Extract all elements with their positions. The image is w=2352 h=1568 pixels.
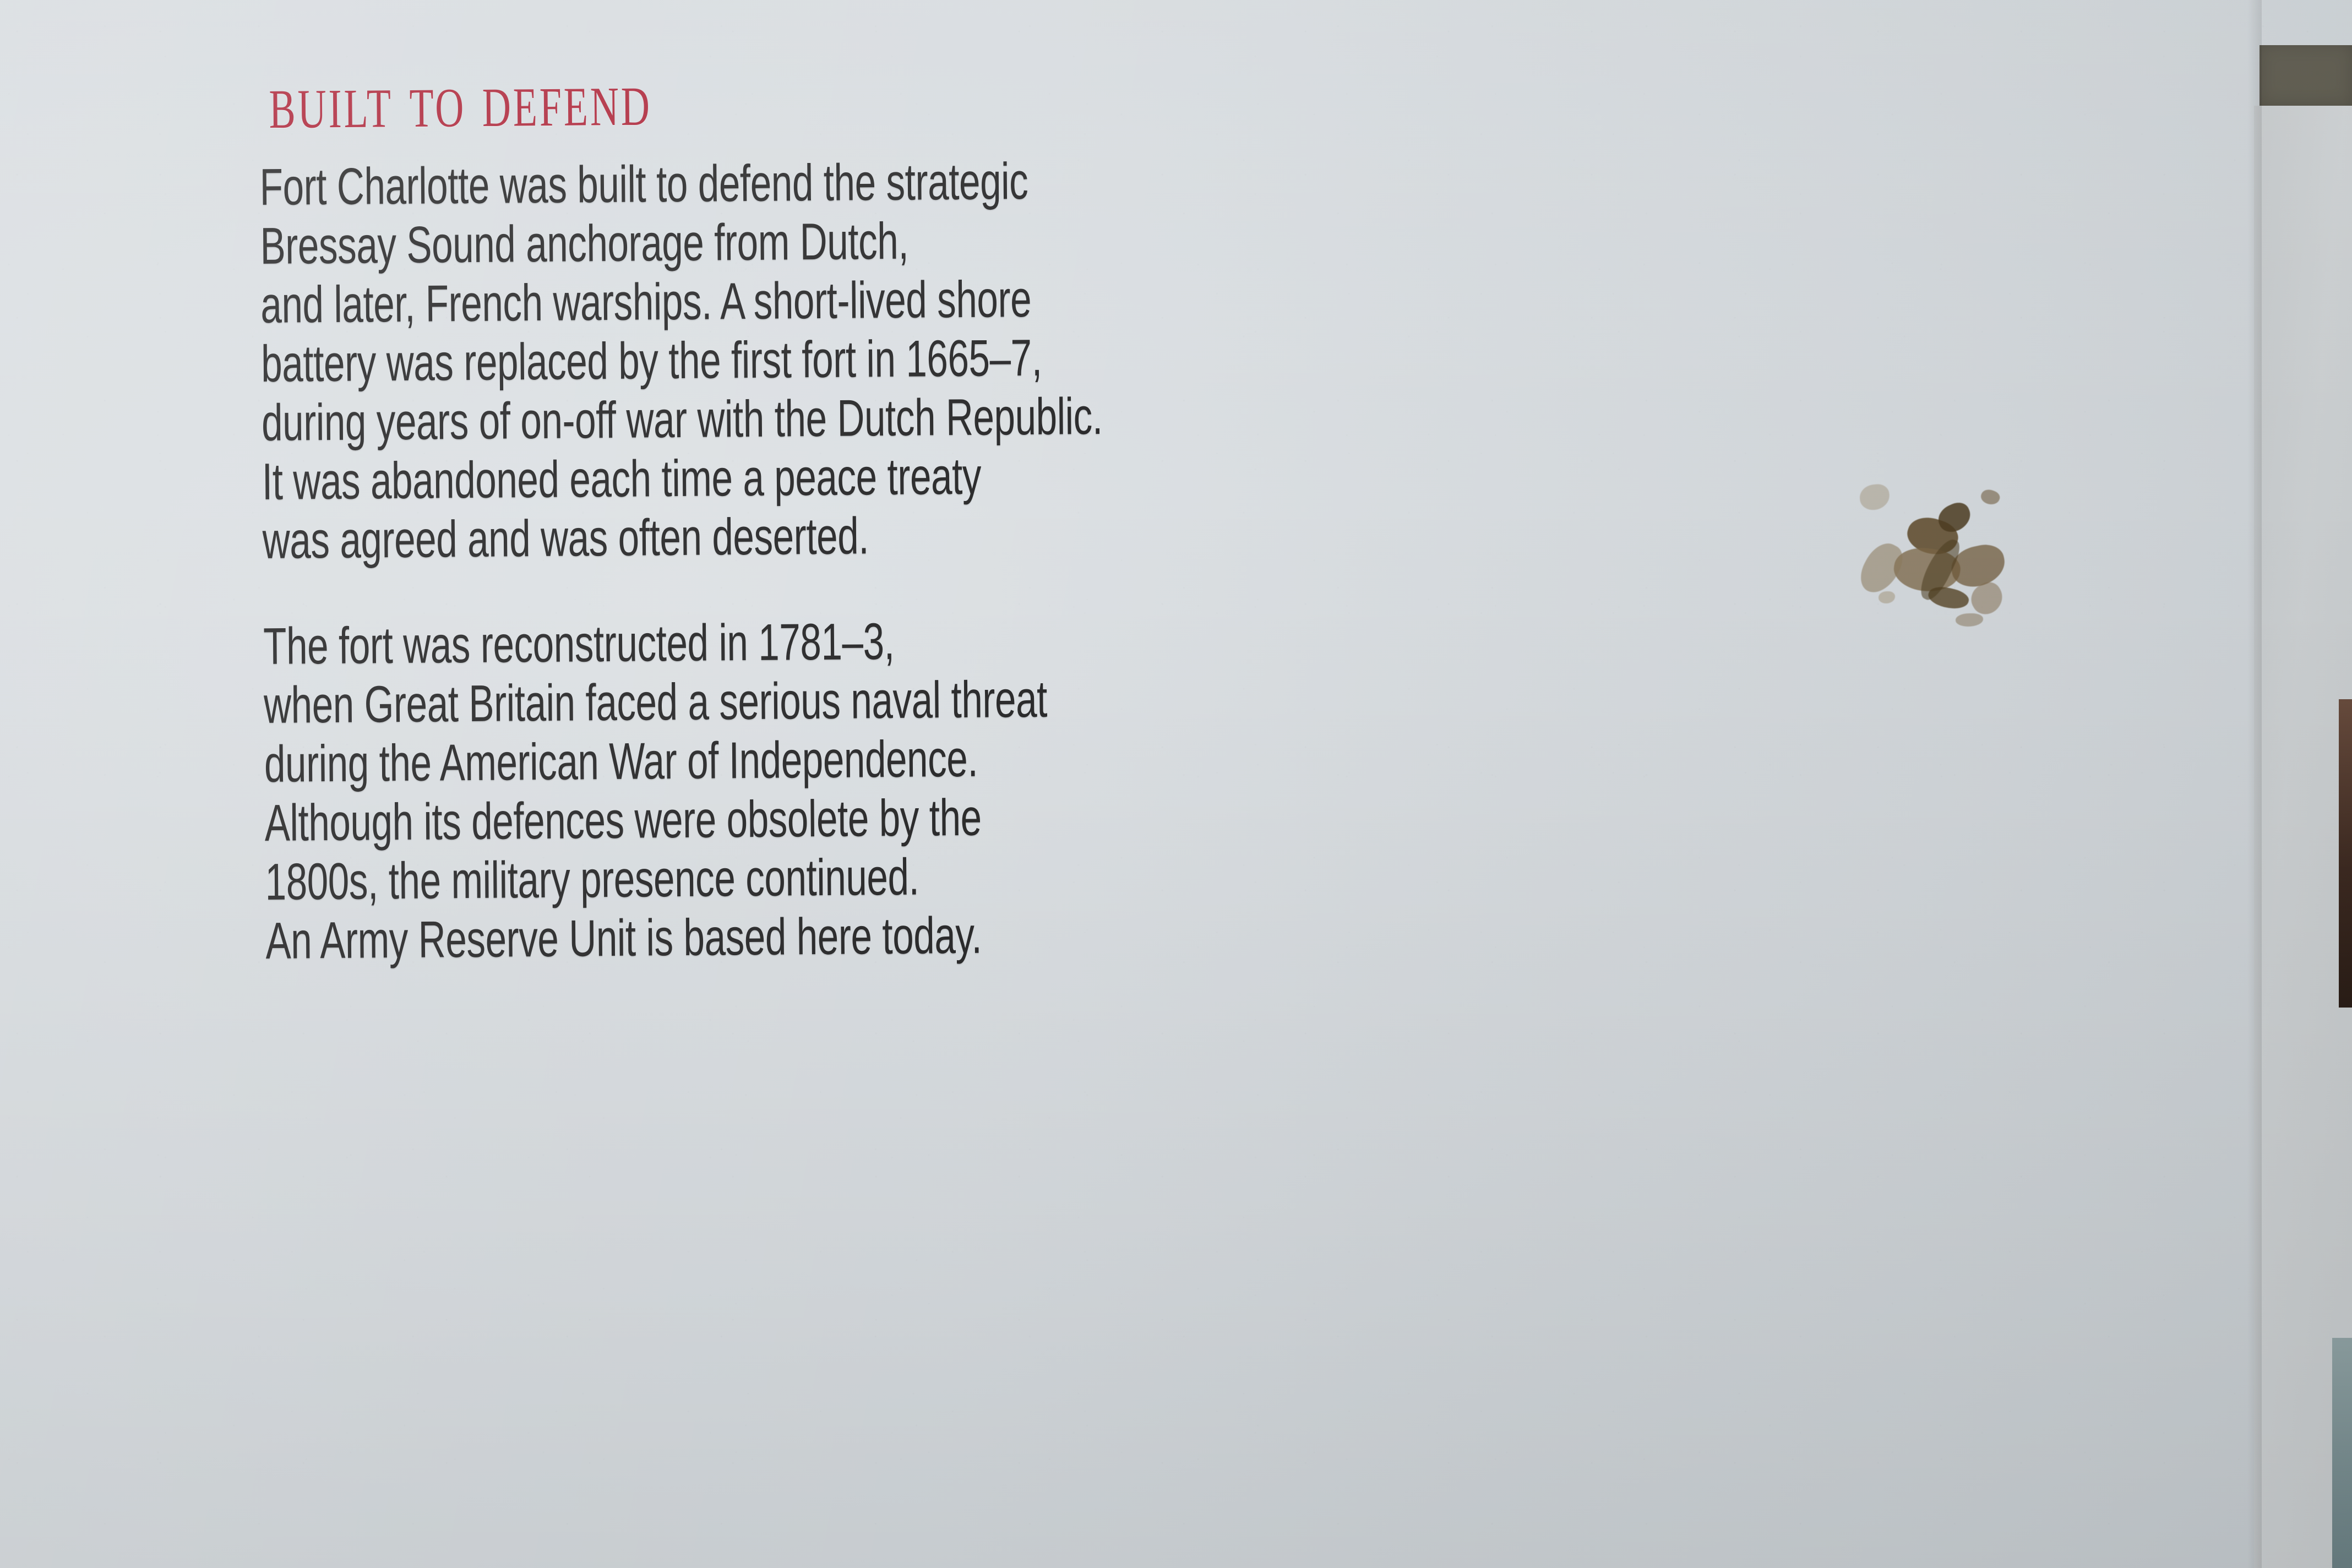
paragraph-2: The fort was reconstructed in 1781–3, wh…	[263, 602, 2079, 970]
interpretation-panel-photo: BUILT TO DEFEND Fort Charlotte was built…	[0, 0, 2352, 1568]
paragraph-1: Fort Charlotte was built to defend the s…	[259, 143, 2076, 570]
panel-content: BUILT TO DEFEND Fort Charlotte was built…	[259, 52, 2094, 970]
adjacent-dark-block	[2260, 45, 2352, 106]
adjacent-brown-image-strip	[2339, 699, 2352, 1008]
adjacent-teal-image-strip	[2332, 1338, 2352, 1568]
page-title: BUILT TO DEFEND	[269, 50, 1724, 140]
panel-body-text: Fort Charlotte was built to defend the s…	[259, 143, 2079, 970]
